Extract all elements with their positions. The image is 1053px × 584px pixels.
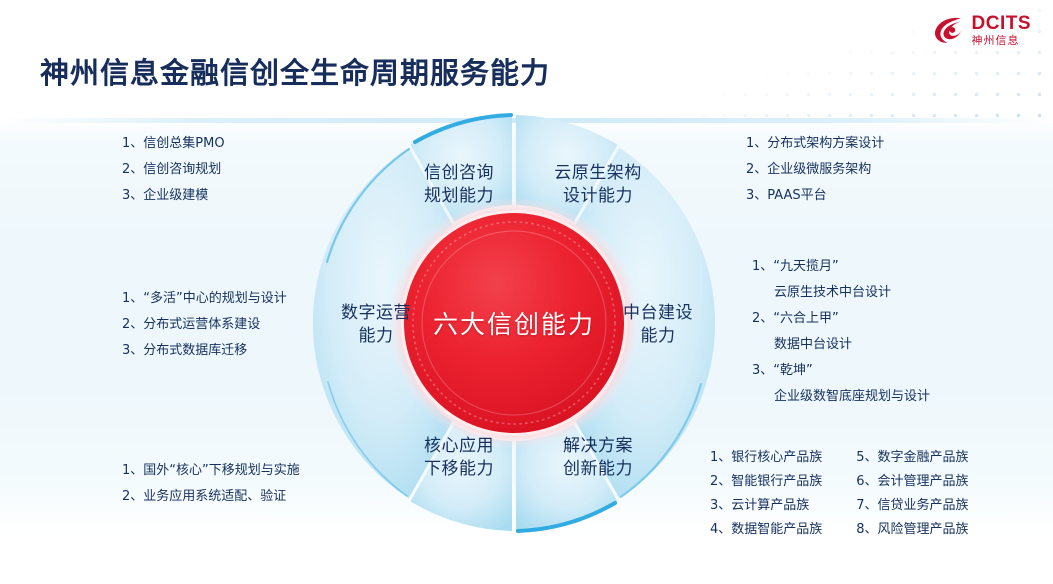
callout-line: 2、智能银行产品族 — [710, 470, 822, 494]
segment-label-line1: 云原生架构 — [554, 163, 642, 183]
logo-cn-text: 神州信息 — [972, 35, 1032, 46]
callout-line: 1、“九天揽月” — [752, 254, 930, 280]
callout-top-left: 1、信创总集PMO 2、信创咨询规划 3、企业级建模 — [122, 131, 225, 209]
segment-label-line2: 能力 — [598, 325, 718, 348]
segment-label-core-app[interactable]: 核心应用 下移能力 — [399, 435, 519, 481]
callout-bottom-right: 1、银行核心产品族 2、智能银行产品族 3、云计算产品族 4、数据智能产品族 5… — [710, 446, 969, 542]
callout-bottom-right-col1: 1、银行核心产品族 2、智能银行产品族 3、云计算产品族 4、数据智能产品族 — [710, 446, 822, 542]
callout-line: 3、企业级建模 — [122, 183, 225, 209]
dcits-swirl-icon — [932, 14, 966, 46]
segment-label-line2: 下移能力 — [399, 458, 519, 481]
callout-line: 7、信贷业务产品族 — [856, 494, 968, 518]
callout-bottom-right-col2: 5、数字金融产品族 6、会计管理产品族 7、信贷业务产品族 8、风险管理产品族 — [856, 446, 968, 542]
callout-line: 6、会计管理产品族 — [856, 470, 968, 494]
callout-line: 5、数字金融产品族 — [856, 446, 968, 470]
callout-line: 2、业务应用系统适配、验证 — [122, 484, 300, 510]
callout-line: 2、“六合上甲” — [752, 306, 930, 332]
callout-line: 2、企业级微服务架构 — [746, 157, 884, 183]
segment-label-line2: 创新能力 — [538, 458, 658, 481]
callout-line: 2、分布式运营体系建设 — [122, 312, 287, 338]
slide-canvas: DCITS 神州信息 神州信息金融信创全生命周期服务能力 1、信创总集PMO 2… — [0, 0, 1053, 584]
callout-line: 3、PAAS平台 — [746, 183, 884, 209]
callout-subline: 企业级数智底座规划与设计 — [752, 384, 930, 410]
segment-label-line2: 规划能力 — [399, 185, 519, 208]
callout-line: 1、信创总集PMO — [122, 131, 225, 157]
callout-bottom-left: 1、国外“核心”下移规划与实施 2、业务应用系统适配、验证 — [122, 458, 300, 510]
logo-en-text: DCITS — [972, 14, 1032, 33]
callout-mid-right: 1、“九天揽月” 云原生技术中台设计 2、“六合上甲” 数据中台设计 3、“乾坤… — [752, 254, 930, 410]
segment-label-midplatform[interactable]: 中台建设 能力 — [598, 302, 718, 348]
segment-label-line2: 能力 — [316, 325, 436, 348]
callout-line: 3、云计算产品族 — [710, 494, 822, 518]
segment-label-line1: 信创咨询 — [424, 163, 494, 183]
page-title: 神州信息金融信创全生命周期服务能力 — [40, 50, 550, 92]
core-circle[interactable] — [404, 213, 624, 433]
callout-line: 1、银行核心产品族 — [710, 446, 822, 470]
segment-label-line1: 核心应用 — [424, 436, 494, 456]
segment-label-solution[interactable]: 解决方案 创新能力 — [538, 435, 658, 481]
callout-line: 2、信创咨询规划 — [122, 157, 225, 183]
segment-label-line1: 数字运营 — [341, 303, 411, 323]
segment-label-consulting[interactable]: 信创咨询 规划能力 — [399, 162, 519, 208]
segment-label-line2: 设计能力 — [538, 185, 658, 208]
callout-line: 3、分布式数据库迁移 — [122, 338, 287, 364]
callout-subline: 数据中台设计 — [752, 332, 930, 358]
callout-line: 3、“乾坤” — [752, 358, 930, 384]
callout-top-right: 1、分布式架构方案设计 2、企业级微服务架构 3、PAAS平台 — [746, 131, 884, 209]
segment-label-line1: 中台建设 — [623, 303, 693, 323]
callout-line: 1、国外“核心”下移规划与实施 — [122, 458, 300, 484]
segment-label-line1: 解决方案 — [563, 436, 633, 456]
callout-line: 1、“多活”中心的规划与设计 — [122, 286, 287, 312]
callout-line: 4、数据智能产品族 — [710, 518, 822, 542]
callout-mid-left: 1、“多活”中心的规划与设计 2、分布式运营体系建设 3、分布式数据库迁移 — [122, 286, 287, 364]
segment-label-cloud-native[interactable]: 云原生架构 设计能力 — [538, 162, 658, 208]
callout-line: 1、分布式架构方案设计 — [746, 131, 884, 157]
company-logo: DCITS 神州信息 — [932, 14, 1032, 46]
callout-line: 8、风险管理产品族 — [856, 518, 968, 542]
callout-subline: 云原生技术中台设计 — [752, 280, 930, 306]
six-capability-donut-diagram: 六大信创能力 信创咨询 规划能力 云原生架构 设计能力 中台建设 能力 解决方案… — [303, 112, 725, 534]
segment-label-digital-ops[interactable]: 数字运营 能力 — [316, 302, 436, 348]
